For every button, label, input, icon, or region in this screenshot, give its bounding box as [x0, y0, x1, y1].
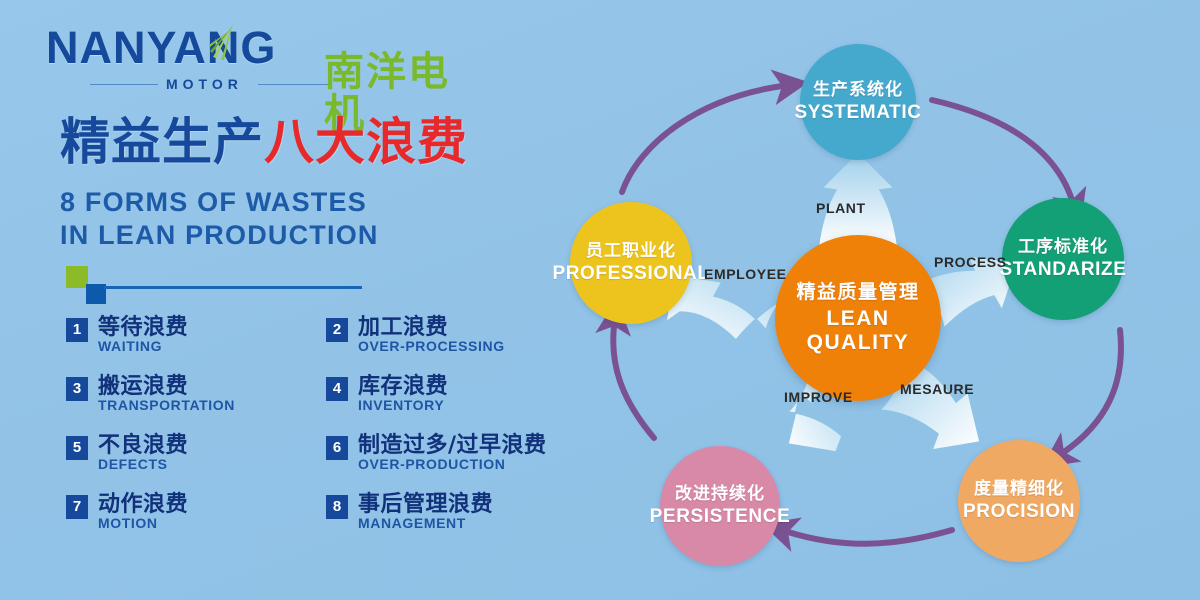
list-item: 2 加工浪费 OVER-PROCESSING — [326, 312, 576, 371]
waste-number: 1 — [66, 318, 88, 342]
inner-label-process: PROCESS — [934, 254, 1007, 270]
node-label-cn: 生产系统化 — [813, 79, 903, 101]
node-label-cn: 改进持续化 — [675, 483, 765, 505]
waste-label-cn: 不良浪费 — [98, 427, 188, 459]
waste-label-en: INVENTORY — [358, 397, 444, 413]
outer-arrow-standarize-to-procision — [1064, 330, 1121, 452]
waste-number: 3 — [66, 377, 88, 401]
waste-column-right: 2 加工浪费 OVER-PROCESSING 4 库存浪费 INVENTORY … — [326, 312, 576, 548]
list-item: 7 动作浪费 MOTION — [66, 489, 316, 548]
waste-label-cn: 等待浪费 — [98, 309, 188, 341]
waste-number: 2 — [326, 318, 348, 342]
inner-label-improve: IMPROVE — [784, 389, 853, 405]
outer-arrow-persistence-to-professional — [613, 326, 654, 438]
headline-chinese: 精益生产八大浪费 — [60, 112, 580, 172]
waste-label-en: OVER-PRODUCTION — [358, 456, 505, 472]
inner-label-employee: EMPLOYEE — [704, 266, 787, 282]
company-logo: NANYANG MOTOR 南洋电机 — [46, 24, 466, 90]
list-item: 5 不良浪费 DEFECTS — [66, 430, 316, 489]
logo-rule-left — [90, 84, 158, 85]
node-label-en: PERSISTENCE — [650, 505, 791, 529]
waste-label-cn: 搬运浪费 — [98, 368, 188, 400]
center-label-cn: 精益质量管理 — [796, 281, 919, 303]
cycle-node-systematic[interactable]: 生产系统化 SYSTEMATIC — [800, 44, 916, 160]
list-item: 1 等待浪费 WAITING — [66, 312, 316, 371]
cycle-node-procision[interactable]: 度量精细化 PROCISION — [958, 440, 1080, 562]
headline-cn-blue: 精益生产 — [60, 113, 264, 171]
node-label-en: PROFESSIONAL — [552, 262, 709, 286]
waste-label-cn: 库存浪费 — [358, 368, 448, 400]
waste-label-en: TRANSPORTATION — [98, 397, 235, 413]
waste-label-en: MOTION — [98, 515, 158, 531]
waste-label-cn: 制造过多/过早浪费 — [358, 427, 547, 459]
waste-number: 5 — [66, 436, 88, 460]
waste-label-en: MANAGEMENT — [358, 515, 466, 531]
outer-arrow-procision-to-persistence — [788, 530, 952, 544]
headline-english: 8 FORMS OF WASTES IN LEAN PRODUCTION — [60, 186, 580, 252]
inner-label-mesaure: MESAURE — [900, 381, 974, 397]
waste-label-cn: 事后管理浪费 — [358, 486, 493, 518]
waste-number: 6 — [326, 436, 348, 460]
list-item: 6 制造过多/过早浪费 OVER-PRODUCTION — [326, 430, 576, 489]
list-item: 4 库存浪费 INVENTORY — [326, 371, 576, 430]
headline-en-line2: IN LEAN PRODUCTION — [60, 219, 580, 252]
divider-blue-square — [86, 284, 106, 304]
outer-arrow-professional-to-systematic — [622, 86, 782, 192]
headline-en-line1: 8 FORMS OF WASTES — [60, 186, 580, 219]
waste-label-cn: 加工浪费 — [358, 309, 448, 341]
center-label-en: LEAN QUALITY — [775, 307, 941, 355]
logo-rule-right — [258, 84, 328, 85]
cycle-node-standarize[interactable]: 工序标准化 STANDARIZE — [1002, 198, 1124, 320]
divider-line — [104, 286, 362, 289]
waste-number: 8 — [326, 495, 348, 519]
waste-column-left: 1 等待浪费 WAITING 3 搬运浪费 TRANSPORTATION 5 不… — [66, 312, 316, 548]
node-label-cn: 工序标准化 — [1018, 236, 1108, 258]
node-label-cn: 员工职业化 — [586, 240, 676, 262]
list-item: 3 搬运浪费 TRANSPORTATION — [66, 371, 316, 430]
node-label-en: SYSTEMATIC — [794, 101, 921, 125]
outer-arrow-systematic-to-standarize — [932, 100, 1072, 200]
headline-cn-red: 八大浪费 — [264, 113, 468, 171]
node-label-en: PROCISION — [963, 500, 1075, 524]
lean-quality-cycle-diagram: 生产系统化 SYSTEMATIC 工序标准化 STANDARIZE 度量精细化 … — [560, 0, 1200, 600]
cycle-node-center[interactable]: 精益质量管理 LEAN QUALITY — [775, 235, 941, 401]
headline-block: 精益生产八大浪费 8 FORMS OF WASTES IN LEAN PRODU… — [60, 112, 580, 252]
leaf-icon — [203, 20, 251, 74]
logo-sub: MOTOR — [166, 76, 243, 92]
waste-label-en: WAITING — [98, 338, 162, 354]
waste-label-en: DEFECTS — [98, 456, 168, 472]
poster-canvas: NANYANG MOTOR 南洋电机 精益生产八大浪费 8 FORMS OF W… — [0, 0, 1200, 600]
list-item: 8 事后管理浪费 MANAGEMENT — [326, 489, 576, 548]
node-label-en: STANDARIZE — [999, 258, 1126, 282]
waste-number: 7 — [66, 495, 88, 519]
waste-number: 4 — [326, 377, 348, 401]
waste-label-cn: 动作浪费 — [98, 486, 188, 518]
inner-label-plant: PLANT — [816, 200, 866, 216]
node-label-cn: 度量精细化 — [974, 478, 1064, 500]
waste-label-en: OVER-PROCESSING — [358, 338, 505, 354]
cycle-node-persistence[interactable]: 改进持续化 PERSISTENCE — [660, 446, 780, 566]
cycle-node-professional[interactable]: 员工职业化 PROFESSIONAL — [570, 202, 692, 324]
divider-green-square — [66, 266, 88, 288]
decorative-divider — [66, 266, 366, 306]
